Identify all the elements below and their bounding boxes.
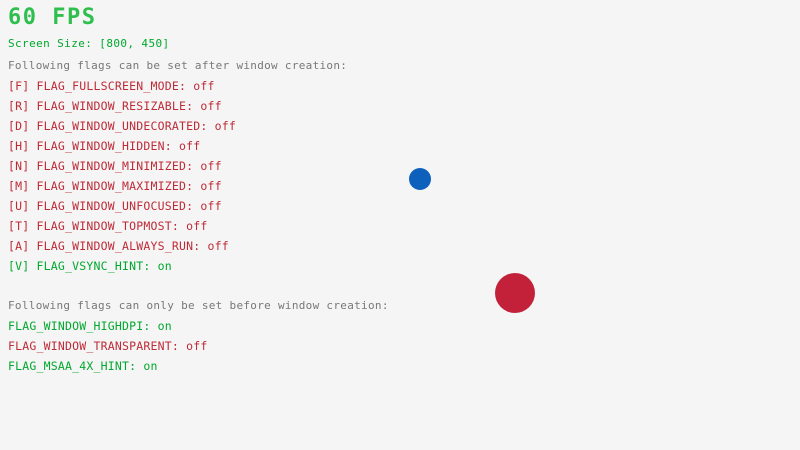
flag-value: off — [179, 139, 200, 153]
section-header-after-creation: Following flags can be set after window … — [8, 59, 347, 72]
flag-name: FLAG_WINDOW_RESIZABLE: — [37, 99, 194, 113]
flag-value: off — [207, 239, 228, 253]
flag-value: off — [200, 159, 221, 173]
flag-name: FLAG_WINDOW_HIGHDPI: — [8, 319, 150, 333]
flag-value: on — [158, 319, 172, 333]
flag-row[interactable]: [A] FLAG_WINDOW_ALWAYS_RUN: off — [8, 239, 229, 253]
flag-value: off — [186, 219, 207, 233]
flag-shortcut-key: [A] — [8, 239, 29, 253]
flag-value: off — [200, 199, 221, 213]
raylib-window-canvas[interactable]: 60 FPS Screen Size: [800, 450] Following… — [0, 0, 800, 450]
flag-row[interactable]: [D] FLAG_WINDOW_UNDECORATED: off — [8, 119, 236, 133]
flag-shortcut-key: [H] — [8, 139, 29, 153]
flag-value: on — [143, 359, 157, 373]
flag-name: FLAG_WINDOW_UNFOCUSED: — [37, 199, 194, 213]
flag-value: off — [193, 79, 214, 93]
flag-value: off — [186, 339, 207, 353]
flag-value: off — [215, 119, 236, 133]
flag-name: FLAG_VSYNC_HINT: — [37, 259, 151, 273]
flag-row: FLAG_WINDOW_TRANSPARENT: off — [8, 339, 207, 353]
flag-shortcut-key: [T] — [8, 219, 29, 233]
flag-name: FLAG_WINDOW_MINIMIZED: — [37, 159, 194, 173]
ball-blue-icon — [409, 168, 431, 190]
flag-value: on — [158, 259, 172, 273]
flag-name: FLAG_FULLSCREEN_MODE: — [37, 79, 187, 93]
flag-shortcut-key: [N] — [8, 159, 29, 173]
flag-row[interactable]: [V] FLAG_VSYNC_HINT: on — [8, 259, 172, 273]
flag-row[interactable]: [N] FLAG_WINDOW_MINIMIZED: off — [8, 159, 222, 173]
flag-name: FLAG_WINDOW_HIDDEN: — [37, 139, 172, 153]
flag-shortcut-key: [F] — [8, 79, 29, 93]
flag-value: off — [200, 99, 221, 113]
flag-row: FLAG_MSAA_4X_HINT: on — [8, 359, 158, 373]
flag-name: FLAG_WINDOW_MAXIMIZED: — [37, 179, 194, 193]
flag-shortcut-key: [R] — [8, 99, 29, 113]
flag-row: FLAG_WINDOW_HIGHDPI: on — [8, 319, 172, 333]
flag-row[interactable]: [H] FLAG_WINDOW_HIDDEN: off — [8, 139, 200, 153]
screen-size-label: Screen Size: [800, 450] — [8, 37, 170, 50]
flag-name: FLAG_MSAA_4X_HINT: — [8, 359, 136, 373]
flag-row[interactable]: [M] FLAG_WINDOW_MAXIMIZED: off — [8, 179, 222, 193]
flag-shortcut-key: [M] — [8, 179, 29, 193]
flag-name: FLAG_WINDOW_ALWAYS_RUN: — [37, 239, 201, 253]
flag-name: FLAG_WINDOW_TRANSPARENT: — [8, 339, 179, 353]
ball-red-icon — [495, 273, 535, 313]
fps-counter: 60 FPS — [8, 6, 96, 30]
flag-row[interactable]: [U] FLAG_WINDOW_UNFOCUSED: off — [8, 199, 222, 213]
flag-name: FLAG_WINDOW_UNDECORATED: — [37, 119, 208, 133]
section-header-before-creation: Following flags can only be set before w… — [8, 299, 389, 312]
flag-shortcut-key: [D] — [8, 119, 29, 133]
flag-shortcut-key: [V] — [8, 259, 29, 273]
flag-name: FLAG_WINDOW_TOPMOST: — [37, 219, 179, 233]
flag-row[interactable]: [T] FLAG_WINDOW_TOPMOST: off — [8, 219, 207, 233]
flag-shortcut-key: [U] — [8, 199, 29, 213]
flag-value: off — [200, 179, 221, 193]
flag-row[interactable]: [F] FLAG_FULLSCREEN_MODE: off — [8, 79, 215, 93]
flag-row[interactable]: [R] FLAG_WINDOW_RESIZABLE: off — [8, 99, 222, 113]
